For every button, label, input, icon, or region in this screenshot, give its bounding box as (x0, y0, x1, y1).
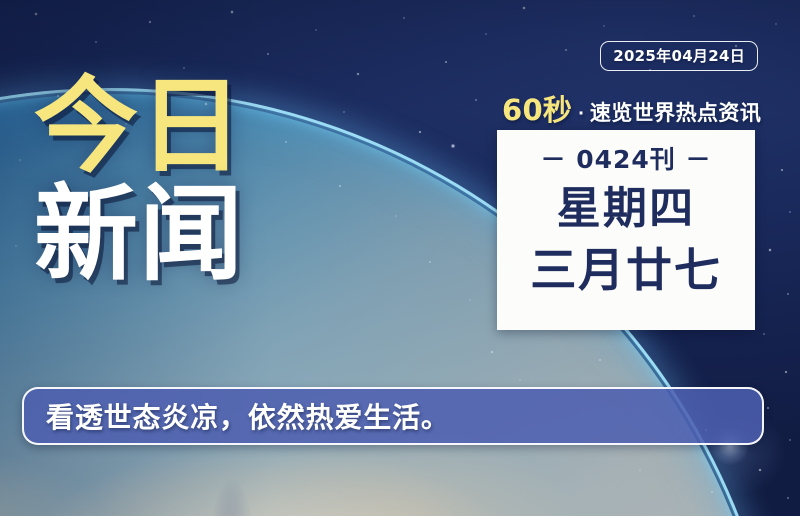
masthead-title: 今日 新闻 (34, 76, 244, 286)
issue-number: － 0424刊 － (541, 140, 712, 176)
masthead-line-news: 新闻 (34, 184, 244, 286)
tagline-separator-dot: · (578, 103, 585, 126)
issue-info-card: － 0424刊 － 星期四 三月廿七 (497, 130, 755, 330)
masthead-line-today: 今日 (34, 76, 244, 178)
tagline-text: 速览世界热点资讯 (590, 97, 761, 127)
poster-content: 今日 新闻 2025年04月24日 60秒 · 速览世界热点资讯 － 0424刊… (0, 0, 800, 516)
tagline-duration: 60秒 (502, 87, 572, 129)
date-badge: 2025年04月24日 (600, 41, 758, 71)
quote-text: 看透世态炎凉，依然热爱生活。 (46, 396, 450, 436)
tagline: 60秒 · 速览世界热点资讯 (502, 87, 758, 129)
lunar-date-label: 三月廿七 (530, 247, 721, 293)
weekday-label: 星期四 (557, 187, 696, 231)
quote-banner: 看透世态炎凉，依然热爱生活。 (22, 387, 764, 445)
news-poster: 今日 新闻 2025年04月24日 60秒 · 速览世界热点资讯 － 0424刊… (0, 0, 800, 516)
